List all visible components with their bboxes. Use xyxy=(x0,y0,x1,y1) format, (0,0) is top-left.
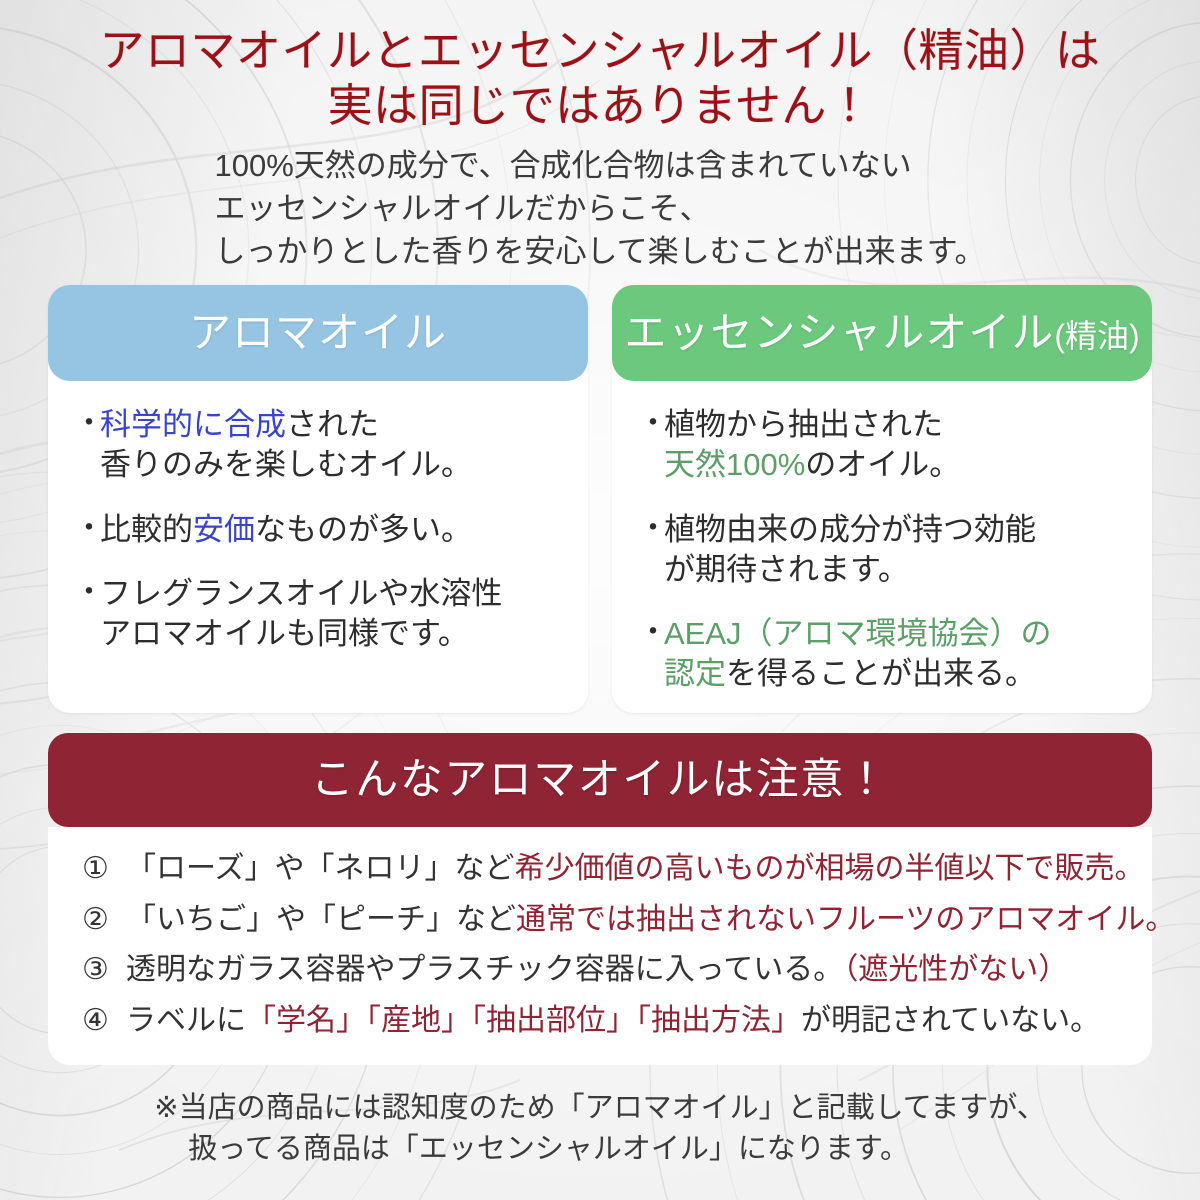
warning-item-text: 「ローズ」や「ネロリ」など希少価値の高いものが相場の半値以下で販売。 xyxy=(126,849,1145,889)
bullet-marker-icon: ・ xyxy=(74,405,100,443)
card-aroma-oil-bullets: ・ 科学的に合成された 香りのみを楽しむオイル。 ・ 比較的安価なものが多い。 … xyxy=(48,381,588,654)
card-aroma-oil-title: アロマオイル xyxy=(189,312,447,354)
card-aroma-oil-title-main: アロマオイル xyxy=(189,309,447,356)
bullet-rest: のオイル。 xyxy=(805,447,960,482)
warning-highlight: 「学名」「産地」「抽出部位」「抽出方法」 xyxy=(246,1004,801,1037)
list-item: ③ 透明なガラス容器やプラスチック容器に入っている。（遮光性がない） xyxy=(82,950,1118,990)
warning-item-number: ② xyxy=(82,900,126,940)
page-title-line-2: 実は同じではありません！ xyxy=(0,79,1200,134)
list-item: ・ AEAJ（アロマ環境協会）の 認定を得ることが出来る。 xyxy=(638,614,1126,695)
bullet-lead: 植物から抽出された xyxy=(664,407,943,442)
bullet-text: フレグランスオイルや水溶性 アロマオイルも同様です。 xyxy=(100,574,562,655)
warning-plain-a: 「ローズ」や「ネロリ」など xyxy=(126,852,515,885)
bullet-marker-icon: ・ xyxy=(74,510,100,548)
list-item: ② 「いちご」や「ピーチ」など通常では抽出されないフルーツのアロマオイル。 xyxy=(82,900,1118,940)
list-item: ・ 比較的安価なものが多い。 xyxy=(74,510,562,550)
list-item: ④ ラベルに「学名」「産地」「抽出部位」「抽出方法」が明記されていない。 xyxy=(82,1001,1118,1041)
bullet-marker-icon: ・ xyxy=(638,510,664,548)
bullet-rest: 植物由来の成分が持つ効能 が期待されます。 xyxy=(664,512,1036,587)
card-essential-oil: エッセンシャルオイル(精油) ・ 植物から抽出された 天然100%のオイル。 ・… xyxy=(612,285,1152,713)
bullet-rest: を得ることが出来る。 xyxy=(726,656,1036,691)
footer-note-line-2: 扱ってる商品は「エッセンシャルオイル」になります。 xyxy=(154,1129,1045,1170)
card-essential-oil-header: エッセンシャルオイル(精油) xyxy=(612,285,1152,381)
bullet-marker-icon: ・ xyxy=(74,574,100,612)
page-title: アロマオイルとエッセンシャルオイル（精油）は 実は同じではありません！ xyxy=(0,24,1200,134)
warning-highlight: 希少価値の高いものが相場の半値以下で販売。 xyxy=(515,852,1145,885)
footer-note-line-1: ※当店の商品には認知度のため「アロマオイル」と記載してますが、 xyxy=(154,1088,1045,1129)
comparison-cards: アロマオイル ・ 科学的に合成された 香りのみを楽しむオイル。 ・ 比較的安価な… xyxy=(48,285,1152,713)
bullet-text: AEAJ（アロマ環境協会）の 認定を得ることが出来る。 xyxy=(664,614,1126,695)
lead-line-2: エッセンシャルオイルだからこそ、 xyxy=(215,188,986,231)
bullet-rest: フレグランスオイルや水溶性 アロマオイルも同様です。 xyxy=(100,576,502,651)
list-item: ・ 植物から抽出された 天然100%のオイル。 xyxy=(638,405,1126,486)
lead-paragraph: 100%天然の成分で、合成化合物は含まれていない エッセンシャルオイルだからこそ… xyxy=(0,145,1200,273)
bullet-highlight: 科学的に合成 xyxy=(100,407,286,442)
list-item: ・ 科学的に合成された 香りのみを楽しむオイル。 xyxy=(74,405,562,486)
list-item: ① 「ローズ」や「ネロリ」など希少価値の高いものが相場の半値以下で販売。 xyxy=(82,849,1118,889)
warning-banner: こんなアロマオイルは注意！ xyxy=(48,733,1152,827)
bullet-text: 植物由来の成分が持つ効能 が期待されます。 xyxy=(664,510,1126,591)
card-aroma-oil-header: アロマオイル xyxy=(48,285,588,381)
card-essential-oil-title: エッセンシャルオイル(精油) xyxy=(624,312,1139,354)
lead-line-3: しっかりとした香りを安心して楽しむことが出来ます。 xyxy=(215,231,986,274)
warning-item-number: ① xyxy=(82,849,126,889)
bullet-marker-icon: ・ xyxy=(638,614,664,652)
card-essential-oil-title-main: エッセンシャルオイル xyxy=(624,309,1054,356)
warning-plain-b: が明記されていない。 xyxy=(801,1004,1100,1037)
card-essential-oil-title-sub: (精油) xyxy=(1054,318,1139,354)
bullet-text: 植物から抽出された 天然100%のオイル。 xyxy=(664,405,1126,486)
bullet-highlight: 天然100% xyxy=(664,447,805,482)
bullet-lead: 比較的 xyxy=(100,512,193,547)
bullet-text: 科学的に合成された 香りのみを楽しむオイル。 xyxy=(100,405,562,486)
poster-root: アロマオイルとエッセンシャルオイル（精油）は 実は同じではありません！ 100%… xyxy=(0,0,1200,1200)
warning-banner-text: こんなアロマオイルは注意！ xyxy=(311,759,890,802)
warning-highlight: （遮光性がない） xyxy=(843,953,1068,986)
bullet-highlight: 安価 xyxy=(193,512,255,547)
warning-plain-a: ラベルに xyxy=(126,1004,246,1037)
footer-note: ※当店の商品には認知度のため「アロマオイル」と記載してますが、 扱ってる商品は「… xyxy=(0,1088,1200,1170)
warning-list-panel: ① 「ローズ」や「ネロリ」など希少価値の高いものが相場の半値以下で販売。 ② 「… xyxy=(48,827,1152,1065)
warning-plain-a: 透明なガラス容器やプラスチック容器に入っている。 xyxy=(126,953,843,986)
bullet-text: 比較的安価なものが多い。 xyxy=(100,510,562,550)
card-essential-oil-bullets: ・ 植物から抽出された 天然100%のオイル。 ・ 植物由来の成分が持つ効能 が… xyxy=(612,381,1152,695)
warning-item-number: ③ xyxy=(82,950,126,990)
warning-item-number: ④ xyxy=(82,1001,126,1041)
bullet-rest: なものが多い。 xyxy=(255,512,472,547)
warning-highlight: 通常では抽出されないフルーツのアロマオイル。 xyxy=(516,903,1175,936)
warning-item-text: ラベルに「学名」「産地」「抽出部位」「抽出方法」が明記されていない。 xyxy=(126,1001,1118,1041)
list-item: ・ フレグランスオイルや水溶性 アロマオイルも同様です。 xyxy=(74,574,562,655)
list-item: ・ 植物由来の成分が持つ効能 が期待されます。 xyxy=(638,510,1126,591)
page-title-line-1: アロマオイルとエッセンシャルオイル（精油）は xyxy=(0,24,1200,79)
card-aroma-oil: アロマオイル ・ 科学的に合成された 香りのみを楽しむオイル。 ・ 比較的安価な… xyxy=(48,285,588,713)
warning-item-text: 「いちご」や「ピーチ」など通常では抽出されないフルーツのアロマオイル。 xyxy=(126,900,1175,940)
bullet-marker-icon: ・ xyxy=(638,405,664,443)
warning-item-text: 透明なガラス容器やプラスチック容器に入っている。（遮光性がない） xyxy=(126,950,1118,990)
lead-line-1: 100%天然の成分で、合成化合物は含まれていない xyxy=(215,145,986,188)
warning-plain-a: 「いちご」や「ピーチ」など xyxy=(126,903,516,936)
